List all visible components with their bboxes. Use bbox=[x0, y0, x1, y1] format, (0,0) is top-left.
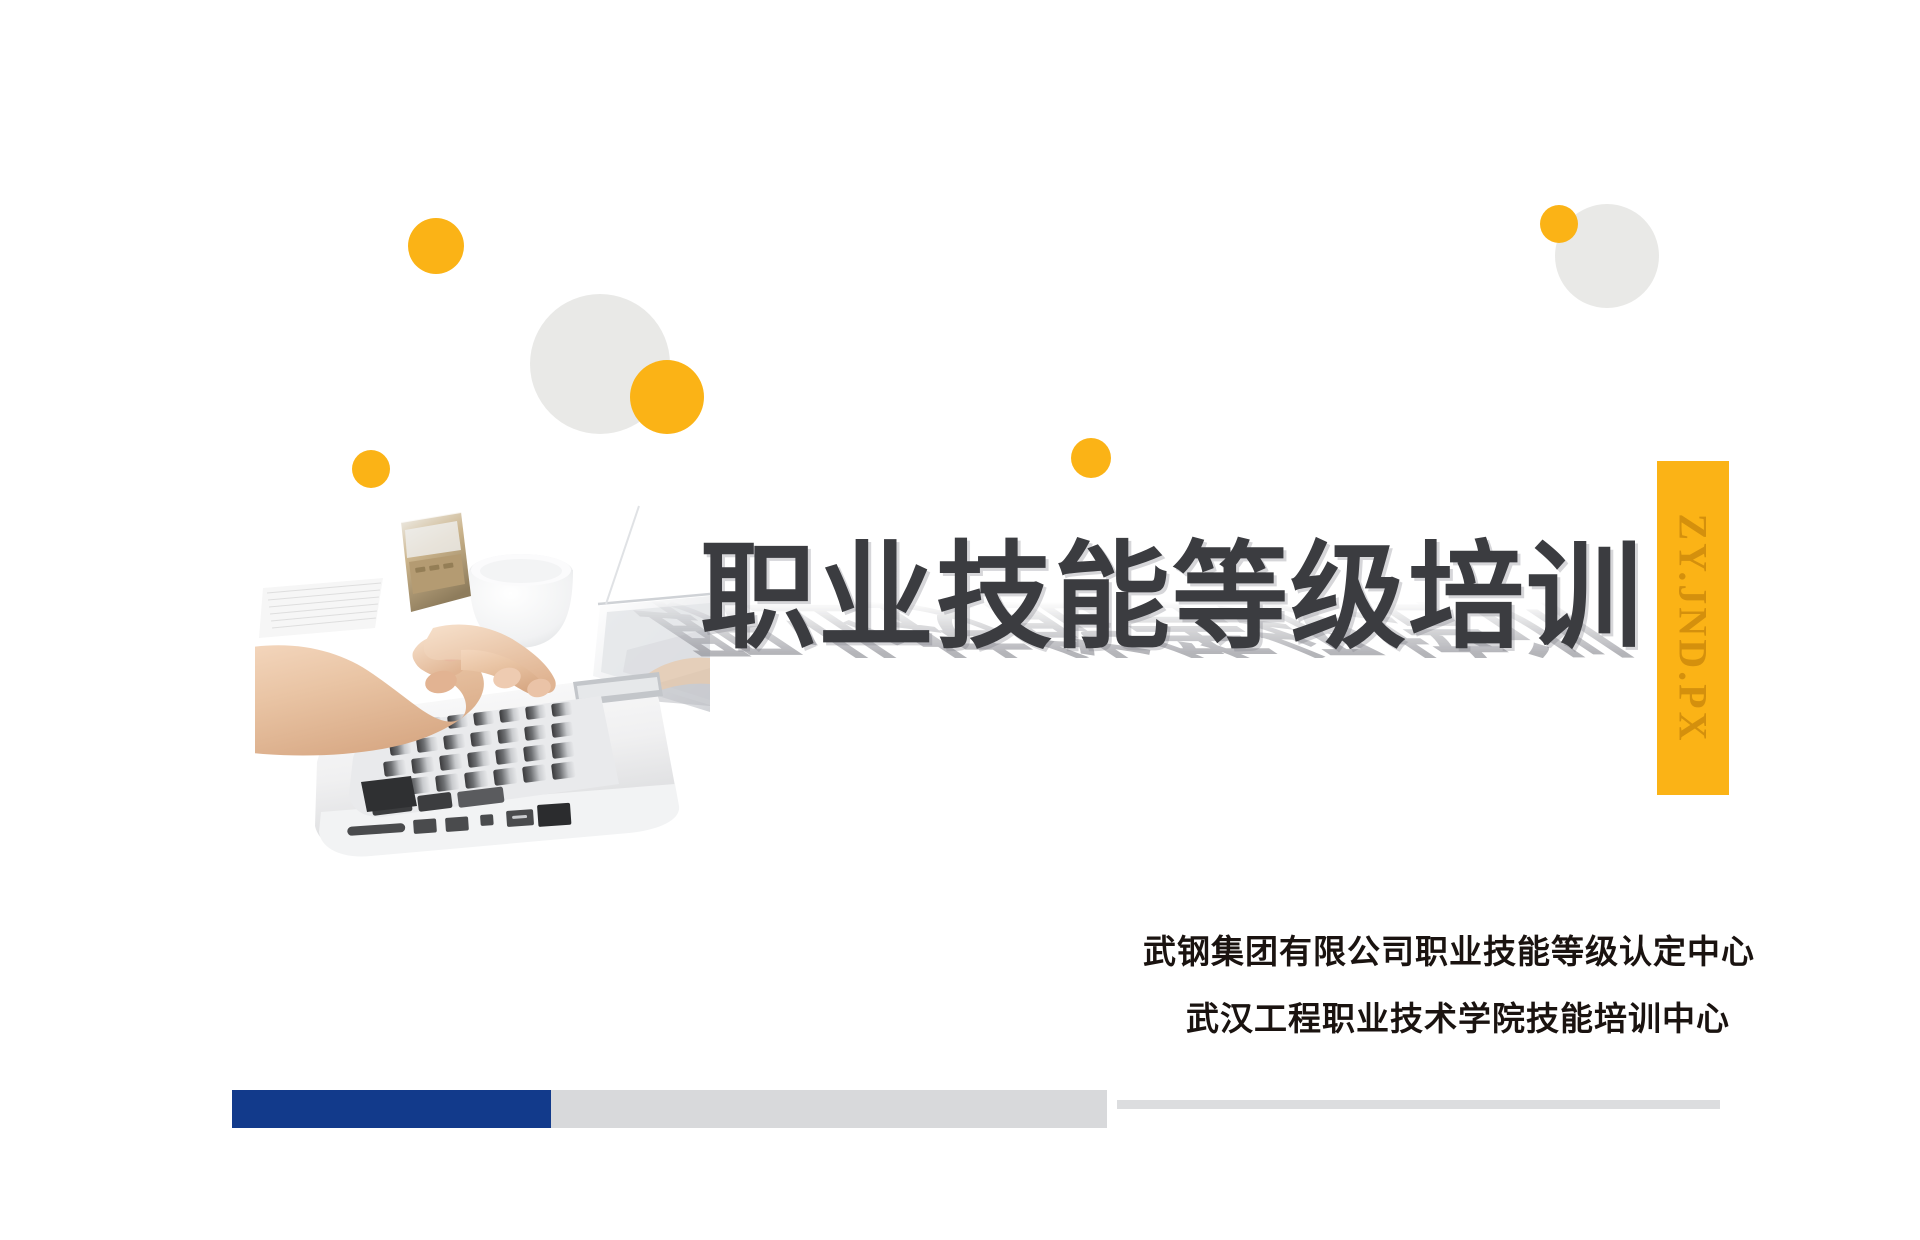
slide-title: 职业技能等级培训 bbox=[700, 540, 1644, 656]
presentation-slide: 职业技能等级培训 职业技能等级培训 ZY.JND.PX 武钢集团有限公司职业技能… bbox=[0, 0, 1920, 1240]
bottom-bar-gray-thin bbox=[1117, 1100, 1720, 1109]
decorative-circle-yellow-tiny-center bbox=[1071, 438, 1111, 478]
vertical-banner-label: ZY.JND.PX bbox=[1670, 513, 1717, 743]
vertical-yellow-banner: ZY.JND.PX bbox=[1657, 461, 1729, 795]
laptop-typing-photo bbox=[255, 500, 710, 860]
bottom-bar-blue bbox=[232, 1090, 551, 1128]
subtitle-line-institute: 武汉工程职业技术学院技能培训中心 bbox=[0, 1002, 1755, 1035]
decorative-circle-yellow-medium-left bbox=[630, 360, 704, 434]
decorative-circle-yellow-tiny-left bbox=[352, 450, 390, 488]
slide-title-block: 职业技能等级培训 职业技能等级培训 bbox=[700, 540, 1640, 800]
decorative-circle-yellow-top-right bbox=[1540, 205, 1578, 243]
decorative-circle-yellow-small-top-left bbox=[408, 218, 464, 274]
subtitle-block: 武钢集团有限公司职业技能等级认定中心 武汉工程职业技术学院技能培训中心 bbox=[0, 935, 1755, 1035]
subtitle-line-organization: 武钢集团有限公司职业技能等级认定中心 bbox=[0, 935, 1755, 968]
